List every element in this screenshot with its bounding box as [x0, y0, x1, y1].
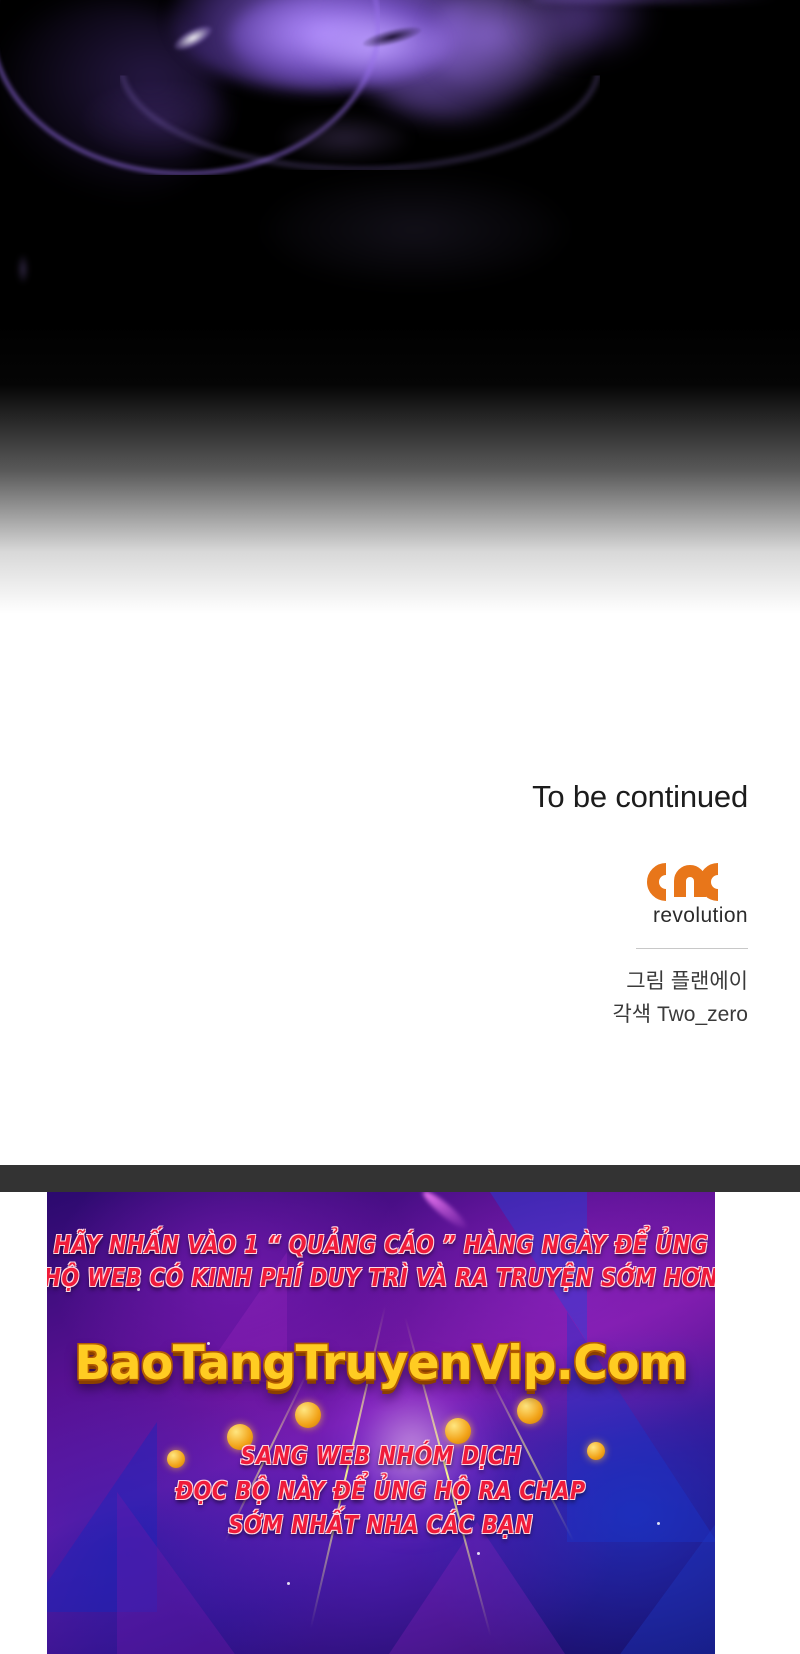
end-card: To be continued revolution [328, 780, 748, 1030]
banner-bottom-line-1: SANG WEB NHÓM DỊCH [240, 1442, 521, 1470]
banner-bottom-line-3: SỚM NHẤT NHA CÁC BẠN [229, 1511, 534, 1539]
comic-panel: To be continued revolution [0, 0, 800, 1165]
section-divider [0, 1165, 800, 1192]
smoke-wisp-icon [520, 0, 650, 60]
to-be-continued-text: To be continued [328, 780, 748, 814]
banner-text-block: HÃY NHẤN VÀO 1 “ QUẢNG CÁO ” HÀNG NGÀY Đ… [47, 1192, 715, 1654]
credit-artist: 그림 플랜에이 [328, 967, 748, 997]
credit-adaptation: 각색 Two_zero [328, 1000, 748, 1030]
credits-divider [636, 948, 748, 949]
banner-top-line-1: HÃY NHẤN VÀO 1 “ QUẢNG CÁO ” HÀNG NGÀY Đ… [54, 1231, 709, 1259]
haze [280, 115, 410, 161]
banner-bottom-line-2: ĐỌC BỘ NÀY ĐỂ ỦNG HỘ RA CHAP [176, 1477, 586, 1505]
light-streak [530, 0, 780, 3]
cnc-logo-icon [636, 859, 748, 909]
studio-logo: revolution [328, 859, 748, 926]
haze [265, 175, 565, 285]
promo-banner[interactable]: HÃY NHẤN VÀO 1 “ QUẢNG CÁO ” HÀNG NGÀY Đ… [47, 1192, 715, 1654]
highlight-glint [18, 255, 28, 283]
banner-top-line-2: HỘ WEB CÓ KINH PHÍ DUY TRÌ VÀ RA TRUYỆN … [47, 1264, 715, 1292]
panel-dark-background [0, 0, 800, 620]
comic-reader-page: To be continued revolution [0, 0, 800, 1654]
studio-logo-subtext: revolution [653, 905, 748, 926]
banner-site-name[interactable]: BaoTangTruyenVip.Com [74, 1336, 687, 1391]
